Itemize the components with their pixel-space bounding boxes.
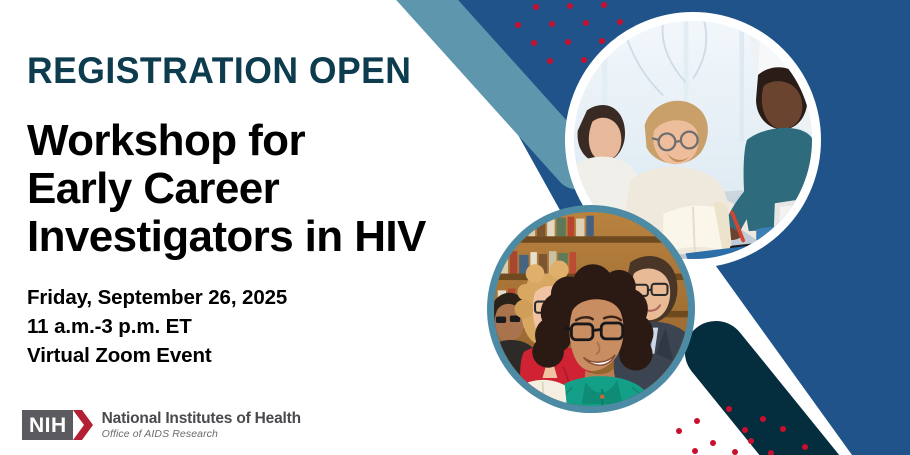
headline-line-1: Workshop for: [27, 117, 426, 165]
headline-line-2: Early Career: [27, 165, 426, 213]
nih-acronym: NIH: [22, 410, 73, 440]
decorative-dot: [583, 20, 589, 26]
chevron-right-icon: [73, 410, 93, 440]
decorative-dot: [581, 57, 587, 63]
headline-line-3: Investigators in HIV: [27, 213, 426, 261]
nih-logo-wordmark: National Institutes of Health Office of …: [102, 410, 301, 440]
decorative-dot: [768, 450, 774, 455]
decorative-dot: [748, 438, 754, 444]
event-details: Friday, September 26, 2025 11 a.m.-3 p.m…: [27, 283, 287, 370]
event-time: 11 a.m.-3 p.m. ET: [27, 312, 287, 341]
nih-logo-mark: NIH: [22, 410, 93, 440]
decorative-dot: [565, 39, 571, 45]
decorative-dot: [599, 38, 605, 44]
event-format: Virtual Zoom Event: [27, 341, 287, 370]
event-promo-banner: REGISTRATION OPEN Workshop for Early Car…: [0, 0, 910, 455]
photo-smiling-students: [487, 205, 695, 413]
banner-text-content: REGISTRATION OPEN Workshop for Early Car…: [27, 0, 507, 455]
decorative-dot: [732, 449, 738, 455]
decorative-dot: [692, 448, 698, 454]
event-date: Friday, September 26, 2025: [27, 283, 287, 312]
decorative-dot: [533, 4, 539, 10]
decorative-dot: [601, 2, 607, 8]
decorative-dot: [742, 427, 748, 433]
decorative-dot: [617, 19, 623, 25]
decorative-dot: [694, 418, 700, 424]
decorative-dot: [802, 444, 808, 450]
page-title: Workshop for Early Career Investigators …: [27, 117, 426, 261]
nih-logo-title: National Institutes of Health: [102, 410, 301, 427]
decorative-dots-bottom: [676, 396, 806, 455]
decorative-dot: [710, 440, 716, 446]
decorative-dot: [760, 416, 766, 422]
decorative-dot: [567, 3, 573, 9]
decorative-dot: [515, 22, 521, 28]
nih-oar-logo: NIH National Institutes of Health Office…: [22, 405, 301, 445]
decorative-dot: [549, 21, 555, 27]
registration-status-kicker: REGISTRATION OPEN: [27, 52, 411, 89]
decorative-dot: [531, 40, 537, 46]
decorative-dot: [726, 406, 732, 412]
nih-logo-subtitle: Office of AIDS Research: [102, 428, 301, 441]
decorative-dot: [547, 58, 553, 64]
decorative-dot: [676, 428, 682, 434]
decorative-dot: [780, 426, 786, 432]
